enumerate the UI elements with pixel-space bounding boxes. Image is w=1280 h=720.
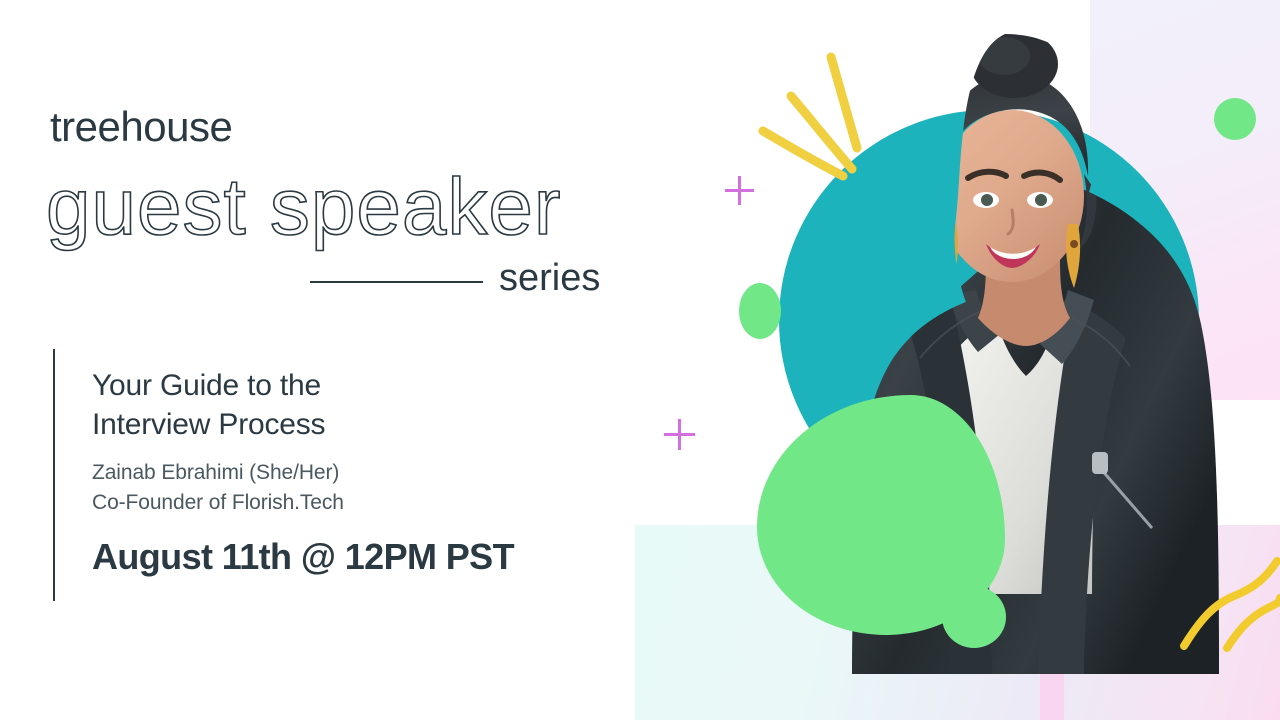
event-datetime: August 11th @ 12PM PST bbox=[92, 539, 612, 575]
headline-outline-text: guest speaker bbox=[42, 160, 662, 250]
bottom-pink-strip bbox=[1040, 640, 1064, 720]
talk-title: Your Guide to the Interview Process bbox=[92, 366, 612, 444]
promo-slide: treehouse guest speaker series Your Guid… bbox=[0, 0, 1280, 720]
speaker-role: Co-Founder of Florish.Tech bbox=[92, 488, 612, 518]
top-right-gradient-panel bbox=[1090, 0, 1280, 400]
svg-text:guest speaker: guest speaker bbox=[46, 162, 562, 251]
plus-mark-icon bbox=[664, 419, 695, 450]
brand-wordmark: treehouse bbox=[50, 106, 232, 148]
event-details-block: Your Guide to the Interview Process Zain… bbox=[92, 366, 612, 575]
detail-vertical-rule bbox=[53, 349, 55, 601]
talk-title-line-1: Your Guide to the bbox=[92, 369, 321, 402]
green-dot-shape bbox=[739, 283, 781, 339]
talk-title-line-2: Interview Process bbox=[92, 408, 325, 441]
bottom-gradient-panel bbox=[635, 525, 1280, 720]
series-divider-rule bbox=[310, 281, 483, 283]
plus-mark-icon bbox=[725, 176, 754, 205]
speaker-name: Zainab Ebrahimi (She/Her) bbox=[92, 458, 612, 488]
series-label: series bbox=[499, 259, 600, 297]
